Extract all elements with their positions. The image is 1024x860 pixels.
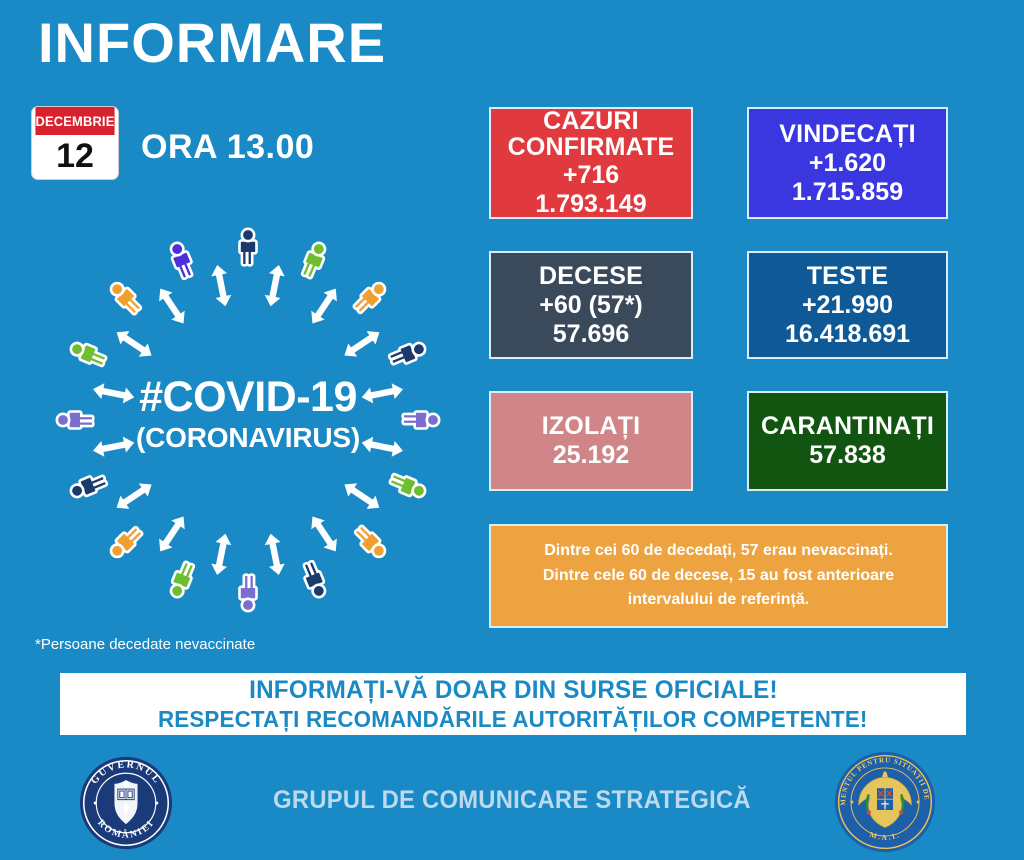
stat-box-cazuri-confirmate: CAZURI CONFIRMATE +716 1.793.149 [489,107,693,219]
footnote-text: *Persoane decedate nevaccinate [35,636,255,653]
stat-label-line2: CONFIRMATE [508,134,675,161]
distance-arrow-icon [91,381,135,405]
stat-delta: +60 (57*) [539,291,643,320]
social-distancing-circle-graphic: #COVID-19 (CORONAVIRUS) [28,215,468,635]
stat-label: VINDECAȚI [779,120,916,149]
person-icon [299,560,329,600]
stat-delta: +21.990 [802,291,893,320]
person-icon [403,412,440,429]
person-icon [388,339,428,369]
stat-box-teste: TESTE +21.990 16.418.691 [747,251,948,359]
distance-arrow-icon [112,326,156,363]
person-icon [240,575,257,612]
stat-delta: +1.620 [809,149,886,178]
people-circle-svg [28,215,468,635]
calendar-icon: DECEMBRIE 12 [31,106,119,180]
person-icon [107,523,145,561]
stat-total: 1.715.859 [792,178,903,207]
distance-arrow-icon [263,532,287,576]
official-sources-banner: INFORMAȚI-VĂ DOAR DIN SURSE OFICIALE! RE… [60,673,966,735]
banner-line-2: RESPECTAȚI RECOMANDĂRILE AUTORITĂȚILOR C… [158,706,868,733]
distance-arrow-icon [112,478,156,515]
note-line-1: Dintre cei 60 de decedați, 57 erau nevac… [544,539,893,564]
person-icon [167,240,197,280]
stat-label: TESTE [807,262,889,291]
stat-total: 16.418.691 [785,320,910,349]
person-icon [167,560,197,600]
person-icon [351,279,389,317]
stat-box-vindecati: VINDECAȚI +1.620 1.715.859 [747,107,948,219]
distance-arrow-icon [360,381,404,405]
infographic-root: INFORMARE DECEMBRIE 12 ORA 13.00 #COVID-… [0,0,1024,860]
distance-arrow-icon [263,263,287,307]
stat-total: 57.696 [553,320,629,349]
person-icon [68,339,108,369]
report-hour: ORA 13.00 [141,128,314,167]
stat-label: IZOLAȚI [542,412,641,441]
stat-total: 1.793.149 [535,190,646,219]
stat-total: 25.192 [553,441,629,470]
stat-delta: +716 [563,161,619,190]
person-icon [388,471,428,501]
person-icon [68,471,108,501]
distance-arrow-icon [91,435,135,459]
dsu-emblem-icon: DEPARTAMENTUL PENTRU SITUAȚII DE URGENȚĂ… [833,750,937,854]
note-line-2: Dintre cele 60 de decese, 15 au fost ant… [543,564,894,589]
stat-label: DECESE [539,262,643,291]
stat-box-decese: DECESE +60 (57*) 57.696 [489,251,693,359]
page-title: INFORMARE [38,14,386,73]
distance-arrow-icon [209,263,233,307]
person-icon [351,523,389,561]
stat-label: CAZURI CONFIRMATE [508,108,675,161]
calendar-month: DECEMBRIE [35,107,114,135]
distance-arrow-icon [340,326,384,363]
person-icon [240,229,257,265]
banner-line-1: INFORMAȚI-VĂ DOAR DIN SURSE OFICIALE! [249,676,778,705]
note-line-3: intervalului de referință. [628,588,809,613]
distance-arrow-icon [306,512,343,556]
stat-total: 57.838 [809,441,885,470]
distance-arrow-icon [209,532,233,576]
stat-label-line1: CAZURI [508,108,675,135]
distance-arrow-icon [154,284,191,328]
note-box-deaths-unvaccinated: Dintre cei 60 de decedați, 57 erau nevac… [489,524,948,628]
distance-arrow-icon [360,435,404,459]
distance-arrow-icon [306,284,343,328]
calendar-day: 12 [32,135,118,179]
person-icon [57,412,94,429]
person-icon [107,279,145,317]
distance-arrow-icon [340,478,384,515]
stat-label: CARANTINAȚI [761,412,934,441]
stat-box-carantinati: CARANTINAȚI 57.838 [747,391,948,491]
distance-arrow-icon [154,512,191,556]
person-icon [299,240,329,280]
stat-box-izolati: IZOLAȚI 25.192 [489,391,693,491]
